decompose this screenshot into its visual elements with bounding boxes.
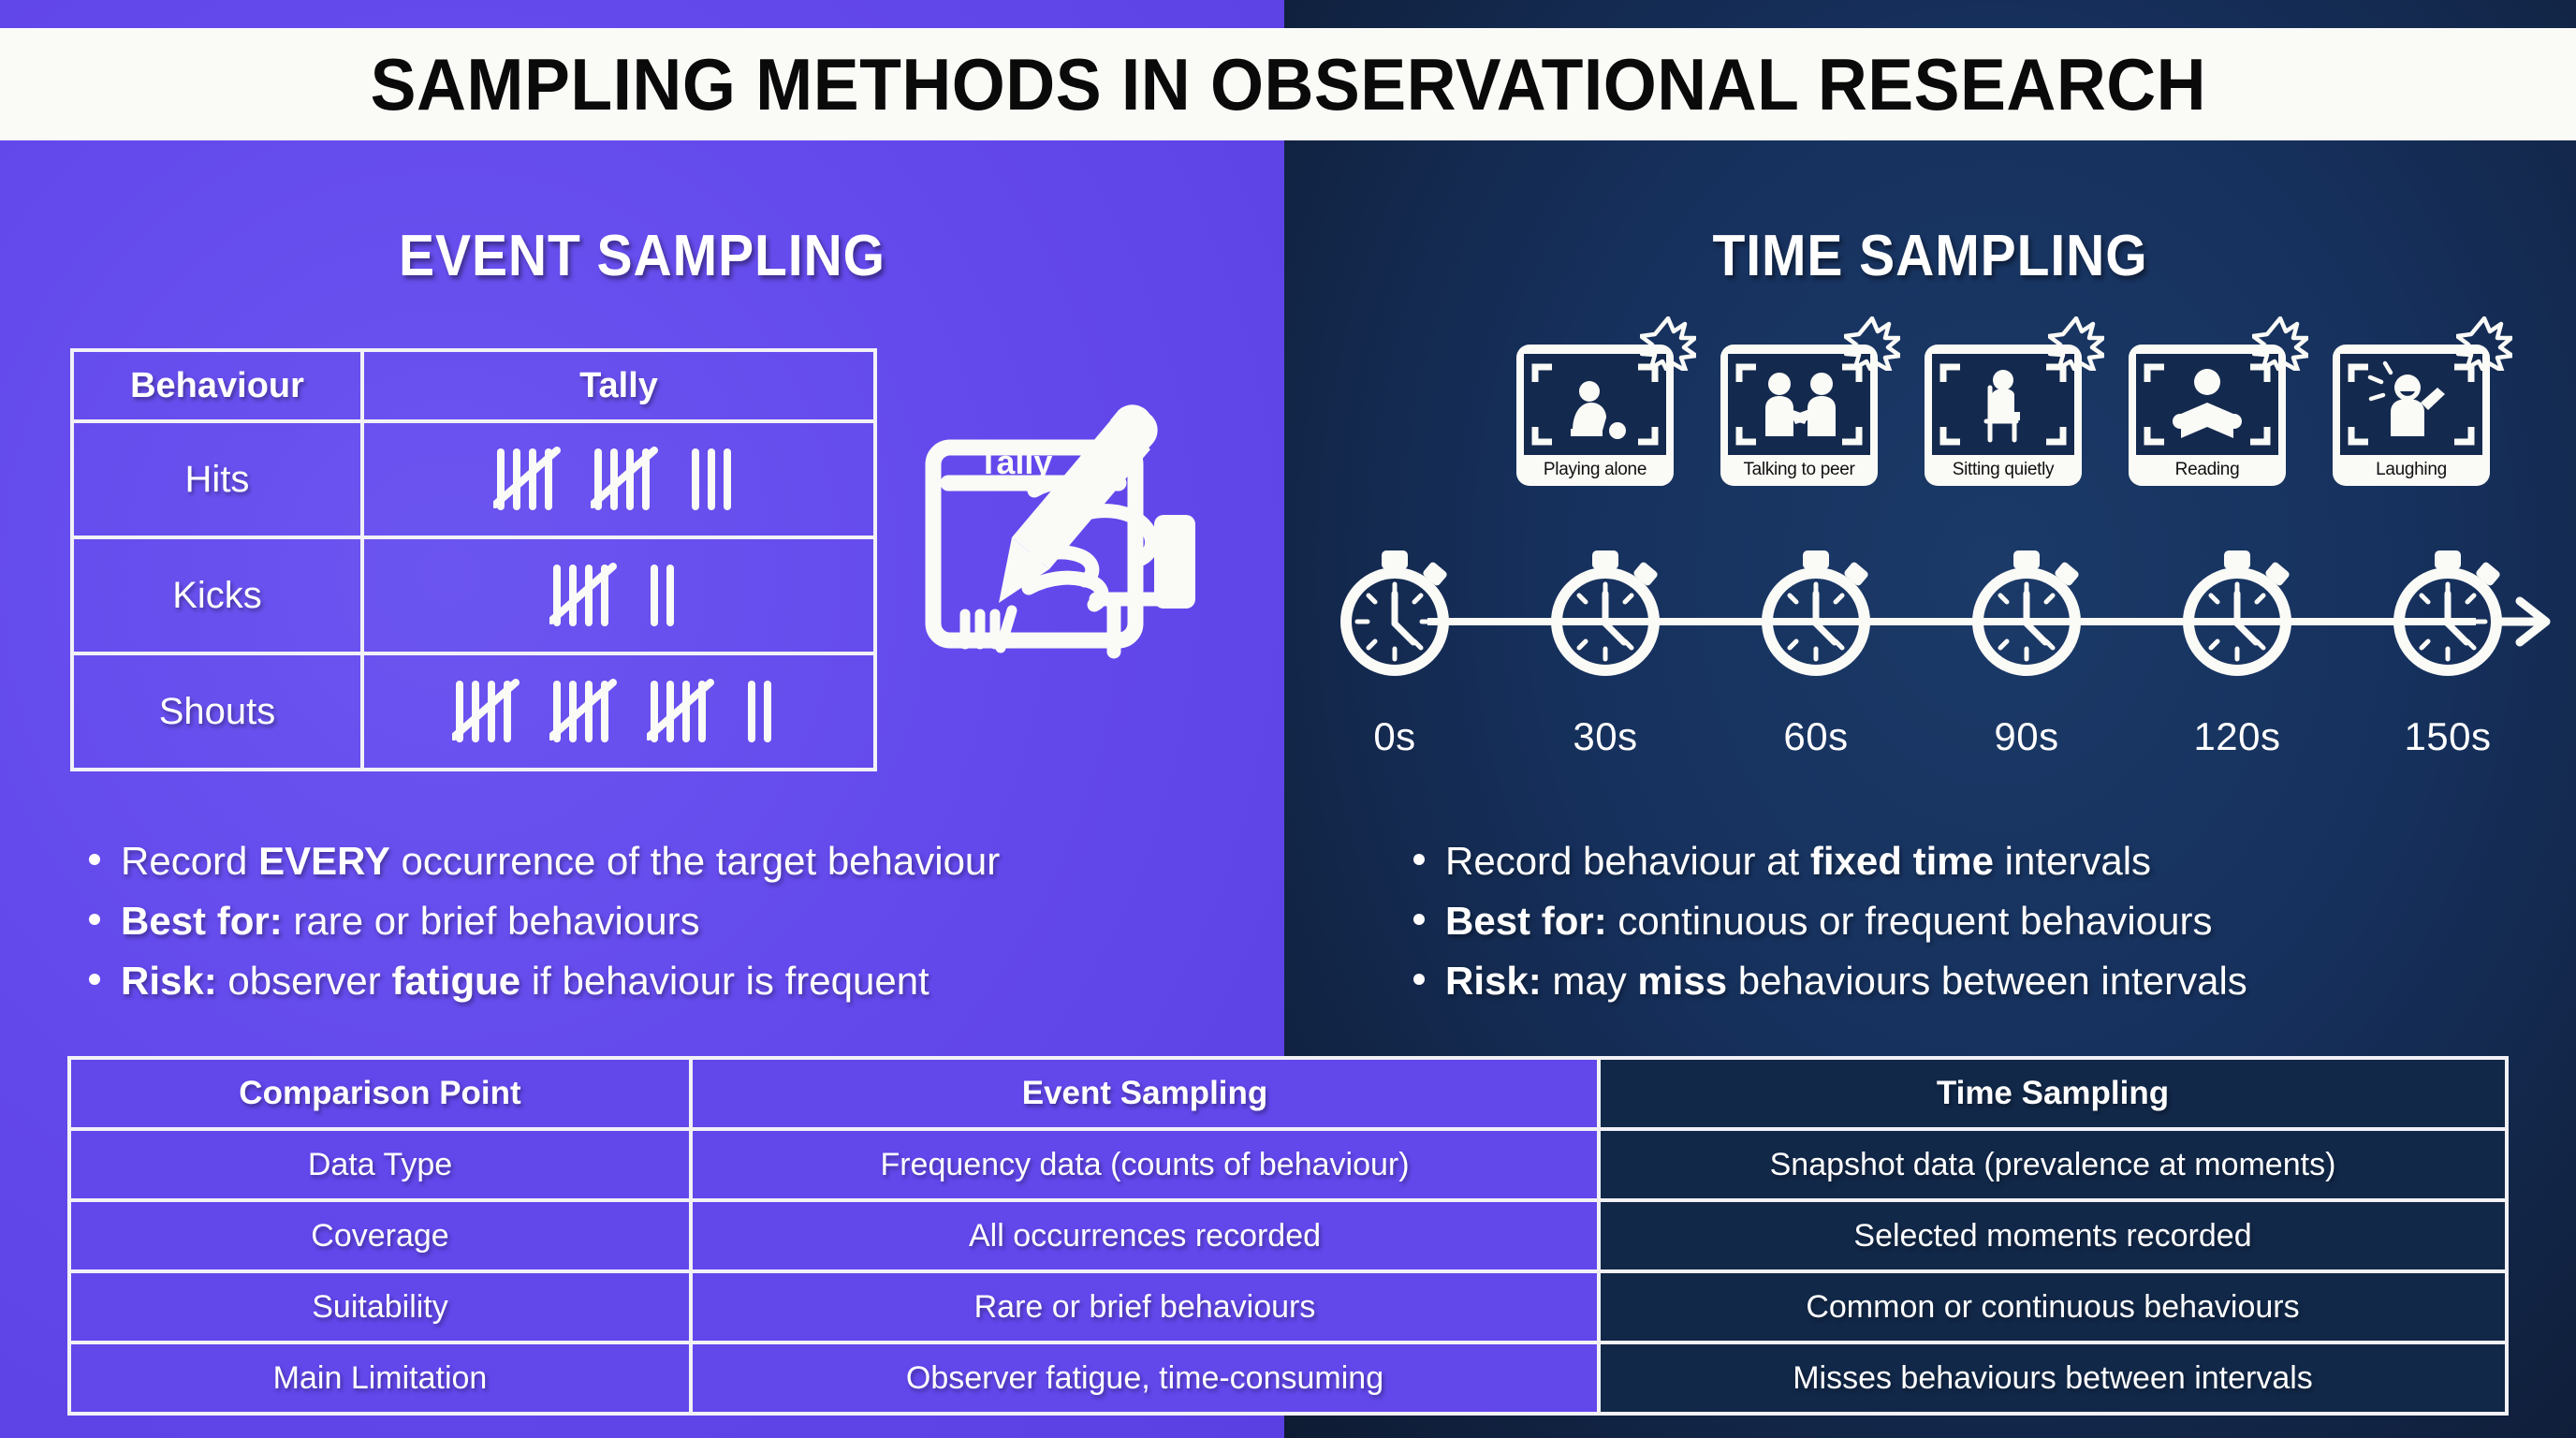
tally-group — [647, 563, 688, 628]
tally-group — [647, 679, 720, 744]
tally-table-header-row: Behaviour Tally — [74, 352, 873, 419]
tally-row-label: Shouts — [74, 655, 364, 768]
snapshot-card: Talking to peer — [1720, 345, 1878, 486]
timeline-mark-30: 30s — [1530, 714, 1680, 759]
tally-group — [549, 679, 622, 744]
camera-flash-icon — [1640, 316, 1696, 375]
tally-row-label: Hits — [74, 423, 364, 536]
bullet-text: Record behaviour at fixed time intervals — [1445, 831, 2151, 891]
list-item: Best for: rare or brief behaviours — [89, 891, 1000, 951]
snapshot-caption: Playing alone — [1524, 460, 1666, 480]
camera-flash-icon — [2048, 316, 2104, 375]
bullet-dot-icon — [1413, 854, 1425, 865]
snapshot-caption: Reading — [2136, 460, 2278, 480]
snapshot-card: Sitting quietly — [1925, 345, 2082, 486]
table-row: Suitability Rare or brief behaviours Com… — [71, 1269, 2505, 1341]
timeline-mark-150: 150s — [2373, 714, 2523, 759]
tally-row-marks — [364, 655, 873, 768]
comparison-cell-point: Data Type — [71, 1131, 693, 1198]
bullet-dot-icon — [1413, 914, 1425, 925]
comparison-header-event: Event Sampling — [693, 1060, 1601, 1127]
tally-group — [688, 447, 745, 512]
tally-clipboard-icon: Tally — [922, 401, 1203, 677]
list-item: Best for: continuous or frequent behavio… — [1413, 891, 2247, 951]
bullet-text: Risk: may miss behaviours between interv… — [1445, 951, 2247, 1011]
tally-group — [549, 563, 622, 628]
timeline-mark-90: 90s — [1952, 714, 2101, 759]
table-row: Coverage All occurrences recorded Select… — [71, 1198, 2505, 1269]
svg-text:Tally: Tally — [978, 443, 1052, 481]
time-sampling-heading: TIME SAMPLING — [1336, 223, 2525, 289]
event-sampling-bullet-list: Record EVERY occurrence of the target be… — [89, 831, 1000, 1010]
comparison-table: Comparison Point Event Sampling Time Sam… — [67, 1056, 2509, 1416]
snapshot-caption: Sitting quietly — [1932, 460, 2074, 480]
bullet-dot-icon — [89, 854, 100, 865]
list-item: Risk: may miss behaviours between interv… — [1413, 951, 2247, 1011]
tally-group — [493, 447, 566, 512]
list-item: Record EVERY occurrence of the target be… — [89, 831, 1000, 891]
tally-header-behaviour: Behaviour — [74, 352, 364, 419]
camera-flash-icon — [1844, 316, 1900, 375]
tally-row-marks — [364, 539, 873, 652]
comparison-header-point: Comparison Point — [71, 1060, 693, 1127]
tally-table: Behaviour Tally Hits Kicks Shouts — [70, 348, 877, 771]
tally-row-label: Kicks — [74, 539, 364, 652]
snapshot-caption: Talking to peer — [1728, 460, 1870, 480]
table-row: Kicks — [74, 536, 873, 652]
tally-group — [452, 679, 525, 744]
stopwatch-timeline-svg — [1339, 550, 2565, 710]
snapshot-card: Playing alone — [1516, 345, 1674, 486]
event-sampling-heading: EVENT SAMPLING — [51, 223, 1233, 289]
bullet-text: Record EVERY occurrence of the target be… — [121, 831, 1000, 891]
comparison-cell-point: Coverage — [71, 1202, 693, 1269]
table-row: Data Type Frequency data (counts of beha… — [71, 1127, 2505, 1198]
comparison-header-row: Comparison Point Event Sampling Time Sam… — [71, 1060, 2505, 1127]
bullet-text: Risk: observer fatigue if behaviour is f… — [121, 951, 929, 1011]
table-row: Shouts — [74, 652, 873, 768]
comparison-cell-event: Rare or brief behaviours — [693, 1273, 1601, 1341]
tally-group — [591, 447, 664, 512]
comparison-cell-time: Misses behaviours between intervals — [1601, 1344, 2505, 1412]
timeline-mark-0: 0s — [1320, 714, 1470, 759]
bullet-text: Best for: rare or brief behaviours — [121, 891, 700, 951]
comparison-cell-event: Frequency data (counts of behaviour) — [693, 1131, 1601, 1198]
snapshot-card-row: Playing alone Talking to peer — [1516, 345, 2490, 486]
bullet-dot-icon — [1413, 974, 1425, 985]
list-item: Record behaviour at fixed time intervals — [1413, 831, 2247, 891]
camera-flash-icon — [2252, 316, 2308, 375]
camera-flash-icon — [2456, 316, 2512, 375]
bullet-text: Best for: continuous or frequent behavio… — [1445, 891, 2212, 951]
comparison-cell-time: Common or continuous behaviours — [1601, 1273, 2505, 1341]
tally-header-tally: Tally — [364, 352, 873, 419]
page-title: SAMPLING METHODS IN OBSERVATIONAL RESEAR… — [370, 42, 2206, 127]
tally-group — [744, 679, 785, 744]
table-row: Main Limitation Observer fatigue, time-c… — [71, 1341, 2505, 1412]
timeline-mark-120: 120s — [2162, 714, 2312, 759]
comparison-cell-point: Suitability — [71, 1273, 693, 1341]
comparison-cell-time: Selected moments recorded — [1601, 1202, 2505, 1269]
comparison-cell-event: Observer fatigue, time-consuming — [693, 1344, 1601, 1412]
table-row: Hits — [74, 419, 873, 536]
time-interval-timeline: 0s 30s 60s 90s 120s 150s — [1339, 550, 2565, 785]
title-band: SAMPLING METHODS IN OBSERVATIONAL RESEAR… — [0, 28, 2576, 140]
list-item: Risk: observer fatigue if behaviour is f… — [89, 951, 1000, 1011]
snapshot-caption: Laughing — [2340, 460, 2482, 480]
comparison-cell-point: Main Limitation — [71, 1344, 693, 1412]
comparison-cell-event: All occurrences recorded — [693, 1202, 1601, 1269]
comparison-header-time: Time Sampling — [1601, 1060, 2505, 1127]
timeline-mark-60: 60s — [1741, 714, 1891, 759]
tally-row-marks — [364, 423, 873, 536]
infographic-canvas: SAMPLING METHODS IN OBSERVATIONAL RESEAR… — [0, 0, 2576, 1438]
bullet-dot-icon — [89, 974, 100, 985]
comparison-cell-time: Snapshot data (prevalence at moments) — [1601, 1131, 2505, 1198]
time-sampling-bullet-list: Record behaviour at fixed time intervals… — [1413, 831, 2247, 1010]
bullet-dot-icon — [89, 914, 100, 925]
snapshot-card: Reading — [2129, 345, 2286, 486]
snapshot-card: Laughing — [2333, 345, 2490, 486]
